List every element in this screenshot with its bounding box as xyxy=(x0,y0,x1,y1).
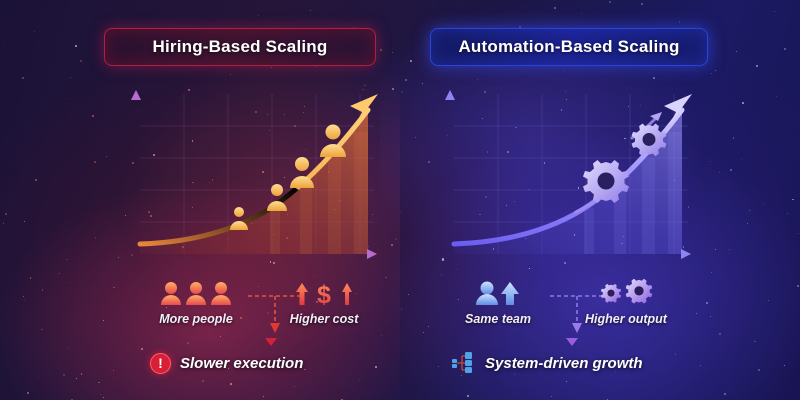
panel-title-automation-label: Automation-Based Scaling xyxy=(458,37,679,57)
outcome-higher-output: Higher output xyxy=(570,280,682,326)
panel-title-hiring-label: Hiring-Based Scaling xyxy=(153,37,328,57)
chart-automation-xaxis-arrow xyxy=(681,249,691,259)
panel-title-hiring: Hiring-Based Scaling xyxy=(104,28,376,66)
outcome-more-people: More people xyxy=(140,280,252,326)
accent-arrowhead-icon xyxy=(650,112,662,121)
outcomes-hiring: More people $ xyxy=(140,280,380,332)
three-people-icon xyxy=(160,280,232,306)
infographic-canvas: Hiring-Based Scaling Automation-Based Sc… xyxy=(0,0,800,400)
person-icon xyxy=(230,207,248,230)
panel-title-automation: Automation-Based Scaling xyxy=(430,28,708,66)
outcome-same-team-label: Same team xyxy=(465,312,531,326)
person-up-arrow-icon xyxy=(472,280,524,306)
warning-exclamation-glyph: ! xyxy=(158,356,163,370)
person-up-arrow-icon-svg xyxy=(472,281,524,306)
gear-icon xyxy=(626,279,653,304)
two-gears-icon-svg xyxy=(594,279,658,306)
outcome-same-team: Same team xyxy=(442,280,554,326)
network-nodes-icon xyxy=(452,352,476,374)
footer-hiring-label: Slower execution xyxy=(180,355,303,372)
footer-hiring: ! Slower execution xyxy=(150,350,303,376)
footer-automation-label: System-driven growth xyxy=(485,355,643,372)
outcome-higher-cost: $ Higher cost xyxy=(268,280,380,326)
outcomes-automation: Same team xyxy=(442,280,698,332)
chart-hiring xyxy=(122,86,382,278)
chart-hiring-xaxis-arrow xyxy=(367,249,377,259)
chart-hiring-svg xyxy=(122,86,382,278)
chart-automation-yaxis-arrow xyxy=(445,90,455,100)
svg-text:$: $ xyxy=(317,281,331,306)
arrow-dollar-arrow-icon: $ xyxy=(292,280,356,306)
footer-automation: System-driven growth xyxy=(452,350,643,376)
footer-pointer-hiring xyxy=(265,338,277,346)
footer-pointer-automation xyxy=(566,338,578,346)
outcome-more-people-label: More people xyxy=(159,312,233,326)
network-nodes-icon-svg xyxy=(452,352,476,374)
chart-automation xyxy=(436,86,696,278)
chart-hiring-yaxis-arrow xyxy=(131,90,141,100)
outcome-higher-output-label: Higher output xyxy=(585,312,667,326)
arrow-dollar-arrow-icon-svg: $ xyxy=(292,281,356,306)
outcome-higher-cost-label: Higher cost xyxy=(290,312,359,326)
warning-exclamation-icon: ! xyxy=(150,353,171,374)
gear-icon xyxy=(601,284,621,303)
two-gears-icon xyxy=(594,280,658,306)
chart-automation-svg xyxy=(436,86,696,278)
three-people-icon-svg xyxy=(160,281,232,306)
